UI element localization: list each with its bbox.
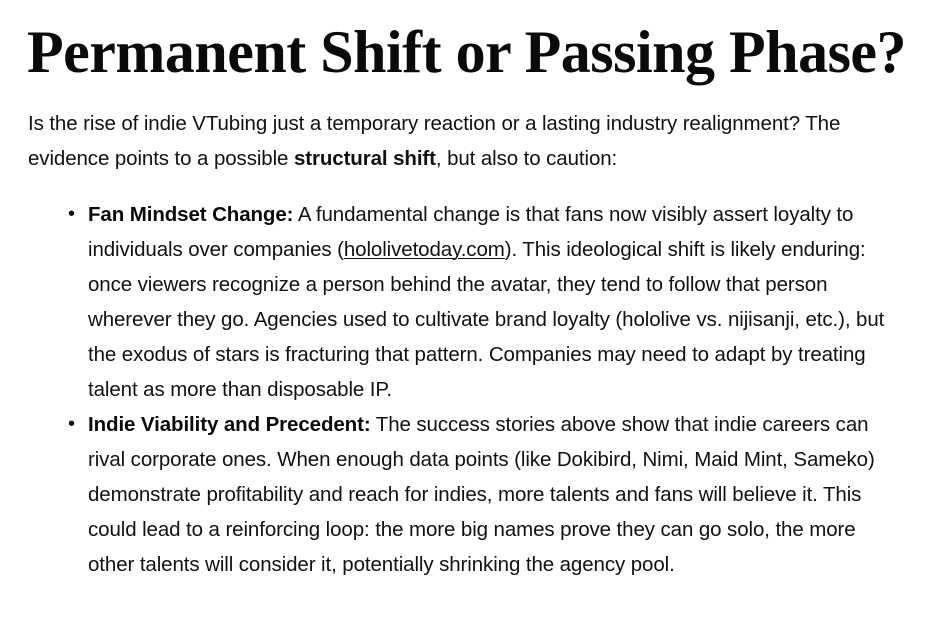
intro-text-after-bold: , but also to caution: xyxy=(436,147,617,170)
list-item-lead: Fan Mindset Change: xyxy=(88,203,293,226)
list-item: •Indie Viability and Precedent: The succ… xyxy=(56,407,906,582)
list-item-text-after-link: ). This ideological shift is likely endu… xyxy=(88,238,884,401)
bullet-list: •Fan Mindset Change: A fundamental chang… xyxy=(28,176,906,582)
intro-paragraph: Is the rise of indie VTubing just a temp… xyxy=(28,82,906,176)
inline-link-hololivetoday[interactable]: hololivetoday.com xyxy=(344,238,505,261)
intro-bold-phrase: structural shift xyxy=(294,147,436,170)
document-body: Is the rise of indie VTubing just a temp… xyxy=(0,82,932,582)
bullet-dot-icon: • xyxy=(68,407,80,442)
page-title: Permanent Shift or Passing Phase? xyxy=(0,0,932,82)
list-item: •Fan Mindset Change: A fundamental chang… xyxy=(56,197,906,407)
document-page: Permanent Shift or Passing Phase? Is the… xyxy=(0,0,932,623)
bullet-dot-icon: • xyxy=(68,197,80,232)
list-item-lead: Indie Viability and Precedent: xyxy=(88,413,371,436)
list-item-text-before-link: The success stories above show that indi… xyxy=(88,413,875,576)
